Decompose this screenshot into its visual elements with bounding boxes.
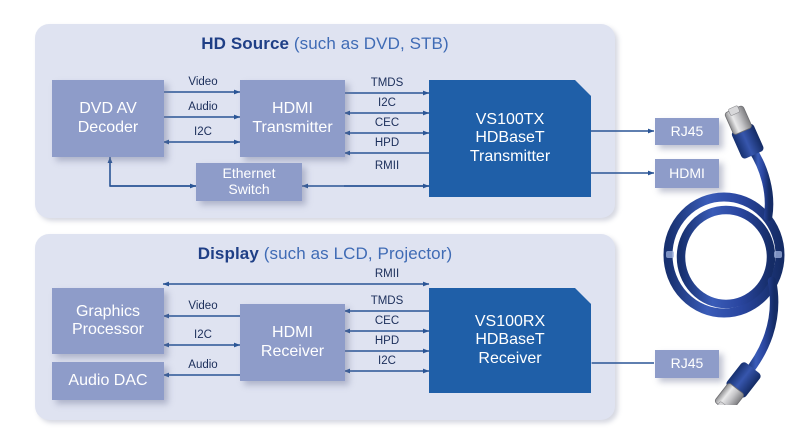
block-dvd-av-decoder-line1: DVD AV	[78, 100, 138, 118]
ethernet-cable-image	[660, 105, 808, 405]
block-audio-dac[interactable]: Audio DAC	[52, 362, 164, 400]
signal-label-cec-rx: CEC	[349, 315, 425, 327]
block-ethernet-switch[interactable]: Ethernet Switch	[196, 163, 302, 201]
panel-display-title-bold: Display	[198, 244, 259, 263]
diagram-canvas: HD Source (such as DVD, STB) Display (su…	[0, 0, 808, 447]
signal-label-cec-tx: CEC	[349, 117, 425, 129]
block-hdmi-receiver-line1: HDMI	[261, 324, 324, 342]
block-hdmi-receiver-line2: Receiver	[261, 343, 324, 361]
block-vs100tx-line1: VS100TX	[470, 111, 550, 129]
block-vs100tx[interactable]: VS100TX HDBaseT Transmitter	[429, 80, 591, 197]
block-dvd-av-decoder[interactable]: DVD AV Decoder	[52, 80, 164, 157]
signal-label-tmds-tx: TMDS	[349, 77, 425, 89]
block-vs100rx[interactable]: VS100RX HDBaseT Receiver	[429, 288, 591, 393]
panel-hd-source-title-rest: (such as DVD, STB)	[294, 34, 449, 53]
block-vs100tx-line2: HDBaseT	[470, 129, 550, 147]
panel-display-title: Display (such as LCD, Projector)	[35, 244, 615, 264]
signal-label-audio-tx: Audio	[168, 101, 238, 113]
panel-hd-source-title: HD Source (such as DVD, STB)	[35, 34, 615, 54]
signal-label-rmii-tx: RMII	[349, 160, 425, 172]
block-hdmi-transmitter[interactable]: HDMI Transmitter	[240, 80, 345, 157]
block-hdmi-transmitter-line1: HDMI	[252, 100, 332, 118]
signal-label-tmds-rx: TMDS	[349, 295, 425, 307]
signal-label-audio-rx: Audio	[168, 359, 238, 371]
block-vs100rx-line2: HDBaseT	[475, 331, 545, 349]
rj45-connector-top	[722, 105, 765, 160]
signal-label-video-rx: Video	[168, 300, 238, 312]
signal-label-video-tx: Video	[168, 76, 238, 88]
block-hdmi-receiver[interactable]: HDMI Receiver	[240, 304, 345, 381]
block-ethernet-switch-line2: Switch	[223, 182, 276, 198]
panel-hd-source-title-bold: HD Source	[201, 34, 289, 53]
signal-label-i2c-tx: I2C	[349, 97, 425, 109]
cable-coil	[666, 149, 782, 375]
signal-label-hpd-rx: HPD	[349, 335, 425, 347]
block-audio-dac-line1: Audio DAC	[68, 372, 147, 390]
block-hdmi-transmitter-line2: Transmitter	[252, 119, 332, 137]
block-vs100rx-line1: VS100RX	[475, 313, 545, 331]
signal-label-rmii-rx: RMII	[349, 268, 425, 280]
block-vs100tx-line3: Transmitter	[470, 148, 550, 166]
signal-label-i2c-rx: I2C	[349, 355, 425, 367]
block-dvd-av-decoder-line2: Decoder	[78, 119, 138, 137]
block-graphics-processor-line1: Graphics	[72, 303, 144, 321]
signal-label-i2c-decoder: I2C	[168, 126, 238, 138]
signal-label-i2c-graphics: I2C	[168, 329, 238, 341]
block-graphics-processor[interactable]: Graphics Processor	[52, 288, 164, 354]
block-graphics-processor-line2: Processor	[72, 321, 144, 339]
block-ethernet-switch-line1: Ethernet	[223, 166, 276, 182]
panel-display-title-rest: (such as LCD, Projector)	[264, 244, 453, 263]
signal-label-hpd-tx: HPD	[349, 137, 425, 149]
block-vs100rx-line3: Receiver	[475, 350, 545, 368]
